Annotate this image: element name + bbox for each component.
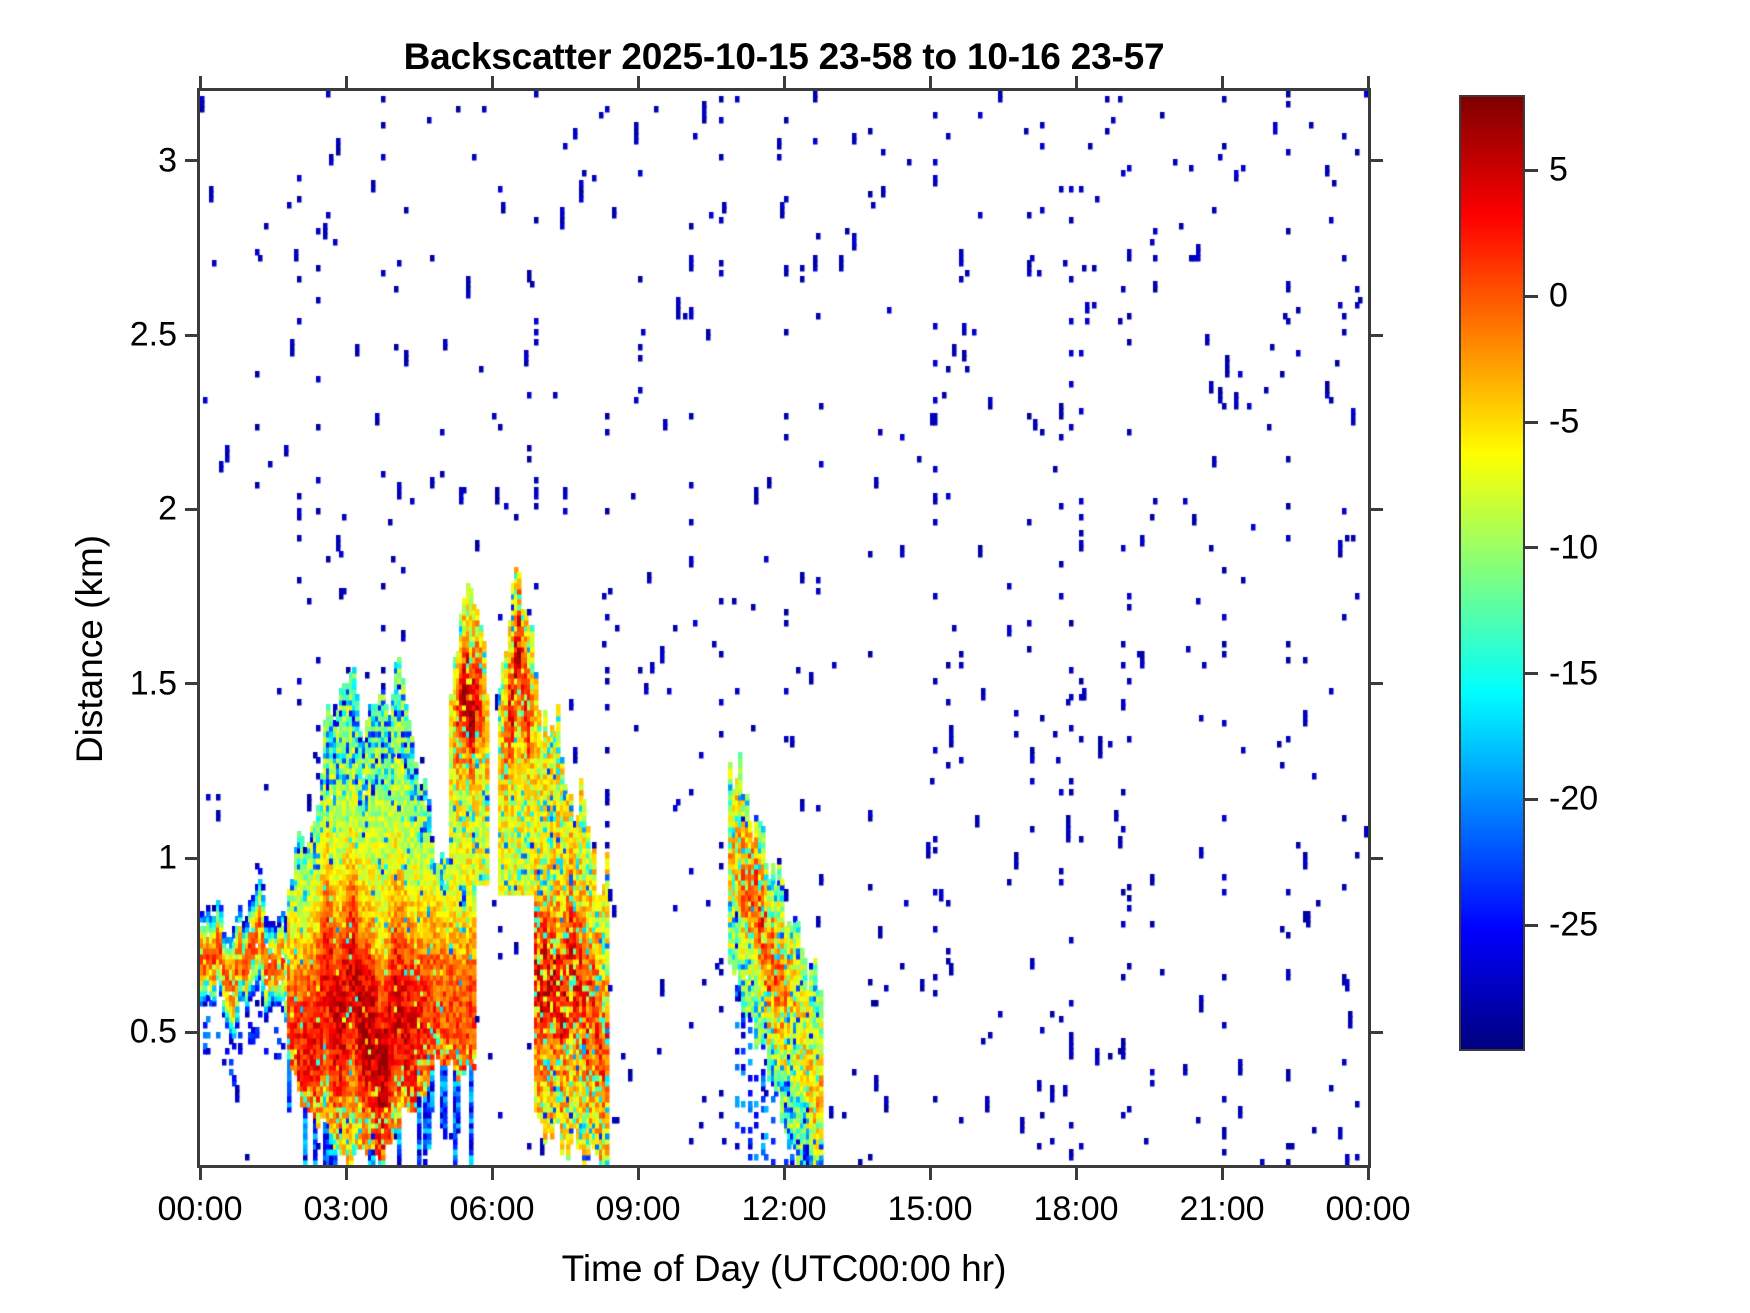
colorbar-tick-mark [1525, 924, 1538, 927]
y-tick-mark [185, 508, 198, 511]
colorbar-tick-mark [1525, 421, 1538, 424]
x-tick-label: 18:00 [1033, 1190, 1118, 1229]
colorbar-tick-label: -5 [1549, 403, 1579, 442]
x-tick-label: 15:00 [887, 1190, 972, 1229]
x-tick-mark-top [783, 76, 786, 89]
x-tick-label: 09:00 [595, 1190, 680, 1229]
y-tick-mark-right [1370, 857, 1383, 860]
x-tick-label: 00:00 [157, 1190, 242, 1229]
y-tick-label: 1 [47, 839, 177, 878]
y-tick-mark [185, 159, 198, 162]
x-tick-mark-top [1075, 76, 1078, 89]
x-tick-mark [199, 1167, 202, 1180]
y-tick-mark-right [1370, 159, 1383, 162]
colorbar-gradient [1461, 97, 1523, 1049]
y-tick-mark [185, 1031, 198, 1034]
x-tick-mark [1367, 1167, 1370, 1180]
figure-container: Backscatter 2025-10-15 23-58 to 10-16 23… [0, 0, 1750, 1313]
colorbar-tick-label: -10 [1549, 528, 1598, 567]
y-axis-label: Distance (km) [69, 349, 111, 949]
x-tick-mark [783, 1167, 786, 1180]
x-tick-label: 12:00 [741, 1190, 826, 1229]
x-tick-mark [637, 1167, 640, 1180]
colorbar-tick-label: -20 [1549, 780, 1598, 819]
y-tick-label: 0.5 [47, 1013, 177, 1052]
y-tick-mark [185, 682, 198, 685]
x-tick-mark-top [929, 76, 932, 89]
x-tick-mark-top [491, 76, 494, 89]
x-tick-mark-top [637, 76, 640, 89]
colorbar [1459, 95, 1525, 1051]
y-tick-mark-right [1370, 682, 1383, 685]
backscatter-heatmap [200, 91, 1368, 1165]
colorbar-tick-label: 5 [1549, 151, 1568, 190]
y-tick-label: 2 [47, 490, 177, 529]
colorbar-tick-label: -25 [1549, 906, 1598, 945]
colorbar-tick-label: 0 [1549, 277, 1568, 316]
page-title: Backscatter 2025-10-15 23-58 to 10-16 23… [197, 36, 1371, 78]
x-tick-label: 21:00 [1179, 1190, 1264, 1229]
x-tick-mark [1075, 1167, 1078, 1180]
y-tick-label: 2.5 [47, 316, 177, 355]
x-tick-mark-top [199, 76, 202, 89]
x-tick-label: 03:00 [303, 1190, 388, 1229]
y-tick-mark [185, 334, 198, 337]
x-axis-label: Time of Day (UTC00:00 hr) [197, 1248, 1371, 1290]
y-tick-mark-right [1370, 1031, 1383, 1034]
x-tick-mark-top [345, 76, 348, 89]
plot-axes [197, 88, 1371, 1168]
colorbar-tick-mark [1525, 169, 1538, 172]
colorbar-tick-label: -15 [1549, 654, 1598, 693]
y-tick-mark-right [1370, 334, 1383, 337]
colorbar-tick-mark [1525, 672, 1538, 675]
x-tick-mark [491, 1167, 494, 1180]
x-tick-mark [345, 1167, 348, 1180]
x-tick-mark-top [1367, 76, 1370, 89]
y-tick-label: 1.5 [47, 664, 177, 703]
x-tick-label: 00:00 [1325, 1190, 1410, 1229]
x-tick-mark [929, 1167, 932, 1180]
y-tick-mark-right [1370, 508, 1383, 511]
colorbar-tick-mark [1525, 546, 1538, 549]
x-tick-mark-top [1221, 76, 1224, 89]
x-tick-mark [1221, 1167, 1224, 1180]
y-tick-mark [185, 857, 198, 860]
y-tick-label: 3 [47, 141, 177, 180]
colorbar-tick-mark [1525, 295, 1538, 298]
colorbar-tick-mark [1525, 798, 1538, 801]
x-tick-label: 06:00 [449, 1190, 534, 1229]
